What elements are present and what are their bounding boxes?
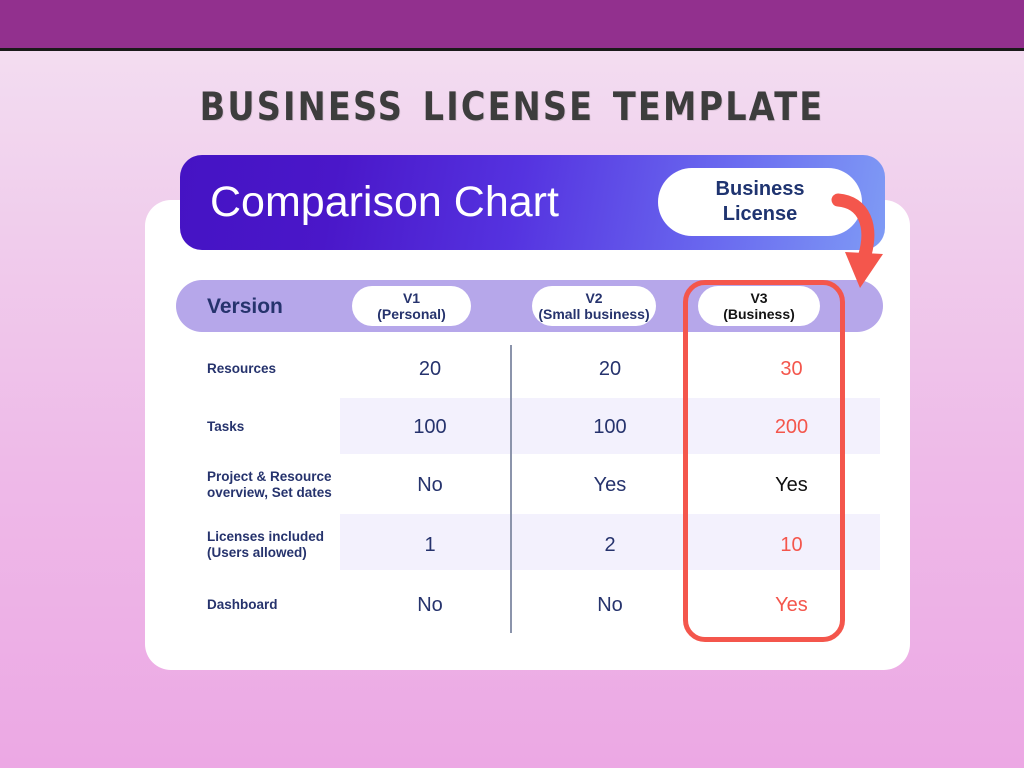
cell-dashboard-v1: No: [340, 593, 520, 617]
business-license-badge-line2: License: [723, 202, 797, 227]
footer: This Excel Product requires Excel 2021 o…: [0, 686, 1024, 756]
row-label-dashboard: Dashboard: [176, 597, 340, 613]
curved-down-arrow-icon: [790, 196, 900, 308]
column-header-v1-name: V1: [403, 290, 420, 306]
page-title: Business License Template: [72, 66, 953, 136]
cell-resources-v1: 20: [340, 357, 520, 381]
cell-licenses-v2: 2: [520, 533, 700, 557]
row-label-project-resource-overview: Project & Resource overview, Set dates: [176, 469, 340, 501]
cell-tasks-v2: 100: [520, 415, 700, 439]
cell-dashboard-v2: No: [520, 593, 700, 617]
column-header-v2-sub: (Small business): [538, 306, 649, 323]
row-label-line1: Project & Resource: [207, 469, 340, 485]
v3-highlight-box: [683, 280, 845, 642]
row-label-line1: Dashboard: [207, 597, 340, 613]
row-label-line2: overview, Set dates: [207, 485, 340, 501]
comparison-banner: Comparison Chart Business License: [180, 155, 885, 250]
banner-title: Comparison Chart: [210, 177, 559, 227]
cell-licenses-v1: 1: [340, 533, 520, 557]
column-header-v2[interactable]: V2 (Small business): [532, 286, 656, 326]
row-label-line2: (Users allowed): [207, 545, 340, 561]
cell-resources-v2: 20: [520, 357, 700, 381]
cell-tasks-v1: 100: [340, 415, 520, 439]
row-label-tasks: Tasks: [176, 419, 340, 435]
row-label-line1: Licenses included: [207, 529, 340, 545]
table-header-version-label: Version: [207, 294, 283, 319]
column-header-v1[interactable]: V1 (Personal): [352, 286, 471, 326]
top-purple-band: [0, 0, 1024, 51]
row-label-line1: Resources: [207, 361, 340, 377]
cell-project-v2: Yes: [520, 473, 700, 497]
row-label-resources: Resources: [176, 361, 340, 377]
column-header-v1-sub: (Personal): [377, 306, 445, 323]
row-label-line1: Tasks: [207, 419, 340, 435]
cell-project-v1: No: [340, 473, 520, 497]
row-label-licenses-included: Licenses included (Users allowed): [176, 529, 340, 561]
poster-canvas: Business License Template Version V1 (Pe…: [0, 0, 1024, 768]
column-header-v2-name: V2: [585, 290, 602, 306]
